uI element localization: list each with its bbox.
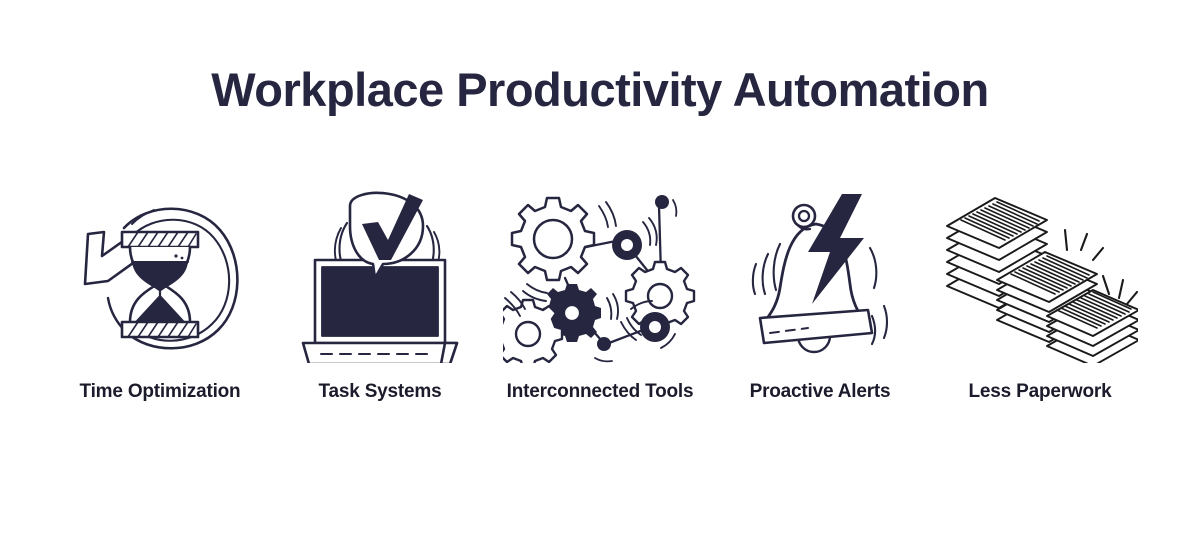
feature-item-less-paperwork[interactable]: Less Paperwork <box>930 185 1150 403</box>
feature-item-time-optimization[interactable]: Time Optimization <box>50 185 270 403</box>
infographic-canvas: Workplace Productivity Automation <box>0 0 1200 533</box>
feature-item-label: Proactive Alerts <box>750 381 891 403</box>
feature-item-interconnected-tools[interactable]: Interconnected Tools <box>490 185 710 403</box>
feature-item-label: Interconnected Tools <box>507 381 694 403</box>
bell-lightning-bolt-icon <box>720 185 920 365</box>
paper-stacks-icon <box>940 185 1140 365</box>
feature-item-label: Time Optimization <box>80 381 241 403</box>
laptop-checkmark-bubble-icon <box>280 185 480 365</box>
hourglass-refresh-icon <box>60 185 260 365</box>
page-title: Workplace Productivity Automation <box>0 62 1200 117</box>
feature-items-row: Time Optimization <box>0 185 1200 403</box>
feature-item-label: Task Systems <box>319 381 442 403</box>
connected-gears-network-icon <box>500 185 700 365</box>
feature-item-proactive-alerts[interactable]: Proactive Alerts <box>710 185 930 403</box>
feature-item-label: Less Paperwork <box>969 381 1112 403</box>
feature-item-task-systems[interactable]: Task Systems <box>270 185 490 403</box>
